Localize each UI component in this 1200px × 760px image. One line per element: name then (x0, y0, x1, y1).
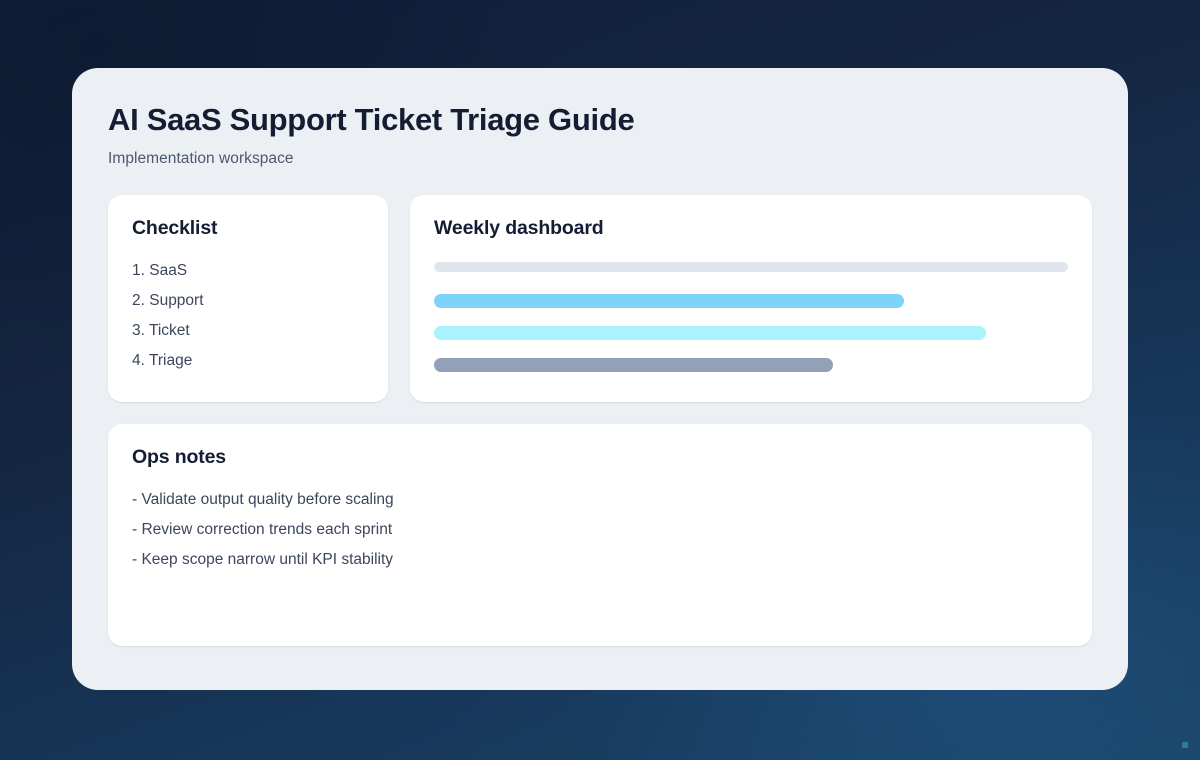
bar-track (434, 294, 1068, 308)
progress-bar-4 (434, 358, 833, 372)
ops-notes-list: - Validate output quality before scaling… (132, 485, 1068, 575)
weekly-dashboard-title: Weekly dashboard (434, 217, 1068, 240)
checklist-title: Checklist (132, 217, 364, 240)
list-item: - Keep scope narrow until KPI stability (132, 545, 1068, 575)
main-panel: AI SaaS Support Ticket Triage Guide Impl… (72, 68, 1128, 690)
ops-notes-card: Ops notes - Validate output quality befo… (108, 424, 1092, 646)
checklist-list: 1. SaaS 2. Support 3. Ticket 4. Triage (132, 256, 364, 376)
list-item[interactable]: 2. Support (132, 286, 364, 316)
page-subtitle: Implementation workspace (108, 150, 1092, 168)
weekly-dashboard-card: Weekly dashboard (410, 195, 1092, 402)
accent-dot (1182, 742, 1188, 748)
progress-bar-1 (434, 262, 1068, 272)
page-title: AI SaaS Support Ticket Triage Guide (108, 102, 1092, 139)
list-item[interactable]: 1. SaaS (132, 256, 364, 286)
bar-track (434, 262, 1068, 272)
progress-bar-2 (434, 294, 904, 308)
progress-bar-3 (434, 326, 986, 340)
bar-track (434, 326, 1068, 340)
list-item[interactable]: 4. Triage (132, 346, 364, 376)
bar-track (434, 358, 1068, 372)
list-item: - Review correction trends each sprint (132, 515, 1068, 545)
list-item[interactable]: 3. Ticket (132, 316, 364, 346)
list-item: - Validate output quality before scaling (132, 485, 1068, 515)
card-row: Checklist 1. SaaS 2. Support 3. Ticket 4… (108, 195, 1092, 402)
dashboard-bars (434, 262, 1068, 372)
ops-notes-title: Ops notes (132, 446, 1068, 469)
checklist-card: Checklist 1. SaaS 2. Support 3. Ticket 4… (108, 195, 388, 402)
